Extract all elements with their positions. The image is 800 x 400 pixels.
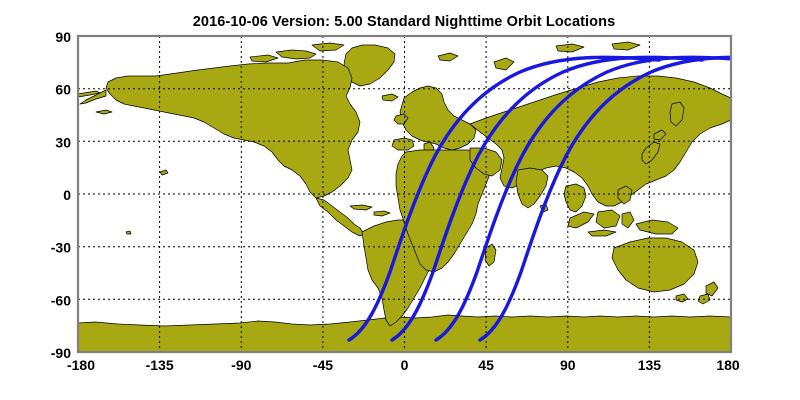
orbit-locations-figure: 2016-10-06 Version: 5.00 Standard Nightt… bbox=[0, 0, 800, 400]
x-tick-0: 0 bbox=[401, 357, 409, 373]
x-tick-m90: -90 bbox=[231, 357, 251, 373]
y-tick-m30: -30 bbox=[51, 240, 71, 256]
y-tick-90: 90 bbox=[55, 29, 71, 45]
x-tick-135: 135 bbox=[638, 357, 662, 373]
y-tick-m60: -60 bbox=[51, 292, 71, 308]
land-iberia bbox=[392, 138, 414, 150]
y-tick-30: 30 bbox=[55, 134, 71, 150]
y-tick-0: 0 bbox=[63, 187, 71, 203]
x-tick-180: 180 bbox=[716, 357, 740, 373]
x-tick-m180: -180 bbox=[67, 357, 95, 373]
x-axis-tick-labels: -180 -135 -90 -45 0 45 90 135 180 bbox=[67, 357, 740, 373]
x-tick-45: 45 bbox=[478, 357, 494, 373]
x-tick-m45: -45 bbox=[313, 357, 333, 373]
x-tick-m135: -135 bbox=[146, 357, 174, 373]
y-tick-60: 60 bbox=[55, 82, 71, 98]
plot-area bbox=[78, 36, 790, 352]
x-tick-90: 90 bbox=[560, 357, 576, 373]
page-title: 2016-10-06 Version: 5.00 Standard Nightt… bbox=[193, 14, 616, 30]
